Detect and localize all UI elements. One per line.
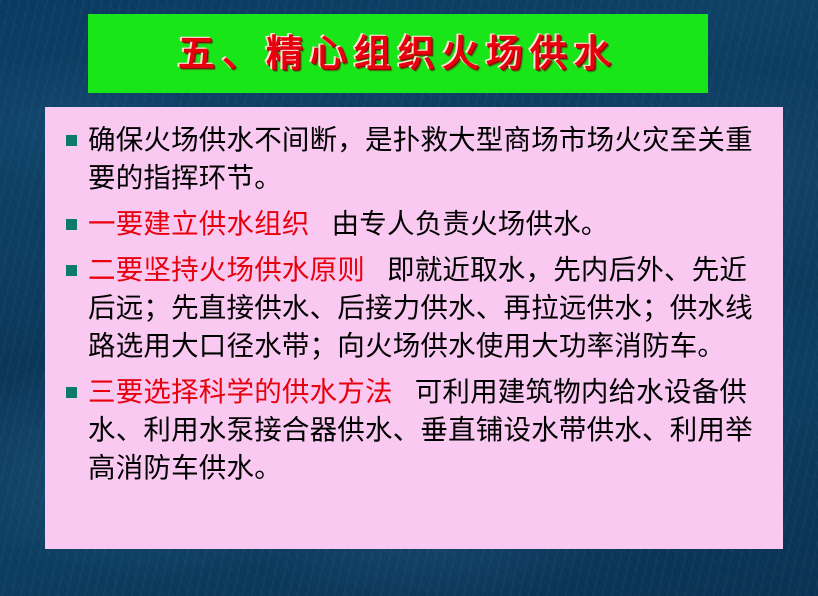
page-title: 五、精心组织火场供水: [178, 35, 618, 72]
list-item: 一要建立供水组织由专人负责火场供水。: [59, 205, 769, 243]
list-item-highlight: 一要建立供水组织: [88, 208, 310, 240]
list-item-highlight: 二要坚持火场供水原则: [88, 254, 365, 286]
content-panel: 确保火场供水不间断，是扑救大型商场市场火灾至关重要的指挥环节。 一要建立供水组织…: [45, 107, 783, 549]
square-bullet-icon: [66, 387, 77, 398]
list-item-highlight: 三要选择科学的供水方法: [88, 376, 393, 408]
square-bullet-icon: [66, 135, 77, 146]
list-item-body: 确保火场供水不间断，是扑救大型商场市场火灾至关重要的指挥环节。: [88, 121, 769, 197]
slide-canvas: 五、精心组织火场供水 确保火场供水不间断，是扑救大型商场市场火灾至关重要的指挥环…: [0, 0, 818, 596]
title-banner: 五、精心组织火场供水: [88, 14, 708, 93]
list-item-body: 二要坚持火场供水原则即就近取水，先内后外、先近后远；先直接供水、后接力供水、再拉…: [88, 251, 769, 365]
square-bullet-icon: [66, 265, 77, 276]
list-item-text: 由专人负责火场供水。: [332, 208, 609, 240]
list-item: 确保火场供水不间断，是扑救大型商场市场火灾至关重要的指挥环节。: [59, 121, 769, 197]
list-item: 二要坚持火场供水原则即就近取水，先内后外、先近后远；先直接供水、后接力供水、再拉…: [59, 251, 769, 365]
list-item-text: 确保火场供水不间断，是扑救大型商场市场火灾至关重要的指挥环节。: [88, 124, 753, 194]
list-item-body: 一要建立供水组织由专人负责火场供水。: [88, 205, 769, 243]
square-bullet-icon: [66, 219, 77, 230]
list-item-body: 三要选择科学的供水方法可利用建筑物内给水设备供水、利用水泵接合器供水、垂直铺设水…: [88, 373, 769, 487]
list-item: 三要选择科学的供水方法可利用建筑物内给水设备供水、利用水泵接合器供水、垂直铺设水…: [59, 373, 769, 487]
